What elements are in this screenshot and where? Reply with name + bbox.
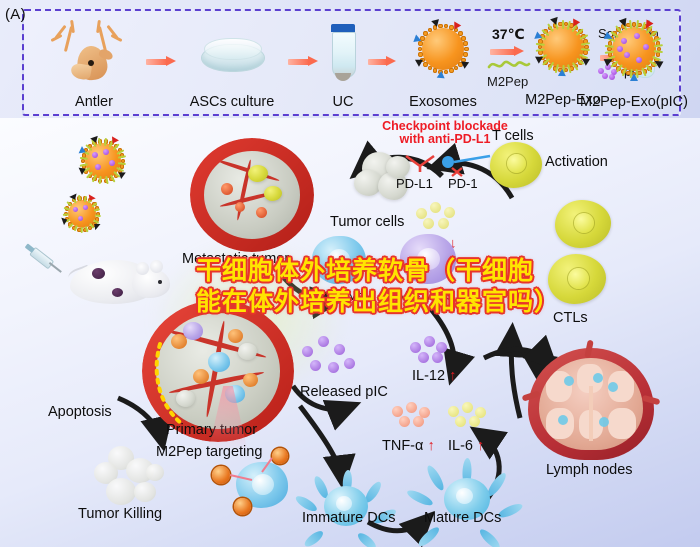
cytokine-tnf-alpha-name: TNF-α bbox=[382, 438, 423, 454]
panel-a-step-ascs: ASCs culture bbox=[176, 18, 288, 110]
il-12-dots bbox=[410, 336, 452, 364]
tnf-alpha-dots bbox=[392, 402, 436, 428]
label-m2-tams: M2-TAMs bbox=[309, 288, 364, 303]
centrifuge-tube-icon bbox=[330, 24, 356, 84]
cytokine-il-6-name: IL-6 bbox=[448, 438, 473, 454]
label-tumor-cells: Tumor cells bbox=[330, 214, 404, 230]
checkpoint-note-line2: with anti-PD-L1 bbox=[400, 132, 491, 146]
label-immature-dcs: Immature DCs bbox=[302, 510, 395, 526]
scientific-figure: Antler ASCs culture UC bbox=[0, 0, 700, 547]
panel-a-label: (A) bbox=[5, 6, 26, 23]
panel-a-caption-uc: UC bbox=[333, 94, 354, 110]
deer-antler-icon bbox=[55, 20, 133, 82]
label-t-cells: T cells bbox=[492, 128, 534, 144]
panel-a-caption-exosomes: Exosomes bbox=[409, 94, 477, 110]
m1-tam-art bbox=[400, 234, 456, 286]
panel-a-caption-m2pep-exo-pic: M2Pep-Exo(pIC) bbox=[580, 94, 688, 110]
pd-l1-pd-1-interaction-icon bbox=[404, 146, 496, 180]
petri-dish-icon bbox=[201, 34, 263, 78]
cytokine-il-6-arrow: ↑ bbox=[477, 438, 484, 454]
released-pic-dots bbox=[300, 336, 360, 382]
il-6-dots bbox=[448, 402, 492, 428]
syringe-icon bbox=[29, 247, 67, 280]
cytokine-il-12-name: IL-12 bbox=[412, 368, 445, 384]
panel-a-arrow-2 bbox=[288, 56, 318, 67]
mature-dc-art bbox=[426, 462, 510, 538]
panel-a-arrow-4 bbox=[490, 46, 524, 57]
label-pd-1: PD-1 bbox=[448, 176, 478, 191]
nanoparticle-large bbox=[78, 136, 128, 186]
label-pd-l1: PD-L1 bbox=[396, 176, 433, 191]
panel-a-arrow-1 bbox=[146, 56, 176, 67]
panel-a-temperature-label: 37℃ bbox=[492, 26, 525, 43]
label-ctls: CTLs bbox=[553, 310, 588, 326]
cytokine-tnf-alpha-arrow: ↑ bbox=[427, 438, 434, 454]
label-apoptosis: Apoptosis bbox=[48, 404, 112, 420]
il-10-dots bbox=[416, 202, 460, 232]
m2pep-targeting-art bbox=[200, 448, 306, 516]
ctl-art-1 bbox=[555, 200, 611, 250]
label-mature-dcs: Mature DCs bbox=[424, 510, 501, 526]
cytokine-il-6: IL-6 ↑ bbox=[448, 438, 484, 454]
m2-tam-art bbox=[312, 236, 366, 286]
apoptotic-body-art bbox=[92, 444, 170, 514]
label-m1-tams: M1-TAMs bbox=[398, 288, 453, 303]
panel-a-step-exosomes: Exosomes bbox=[396, 18, 490, 110]
cytokine-il-12-arrow: ↑ bbox=[449, 368, 456, 384]
ctl-art-2 bbox=[548, 254, 606, 306]
loaded-exosome-icon bbox=[603, 18, 665, 80]
lymph-node-art bbox=[528, 348, 654, 460]
label-metastatic-tumor: Metastatic tumor bbox=[182, 251, 289, 267]
cytokine-tnf-alpha: TNF-α ↑ bbox=[382, 438, 435, 454]
label-tumor-killing: Tumor Killing bbox=[78, 506, 162, 522]
panel-a-step-uc: UC bbox=[318, 18, 368, 110]
panel-a-m2pep-label: M2Pep bbox=[487, 74, 528, 89]
nanoparticle-small bbox=[62, 194, 102, 234]
panel-a-caption-ascs: ASCs culture bbox=[190, 94, 275, 110]
panel-b: Metastatic tumor Tumor cells Checkpoint … bbox=[0, 118, 700, 547]
exosome-icon bbox=[414, 20, 472, 78]
metastatic-tumor-art bbox=[190, 138, 314, 252]
immature-dc-art bbox=[308, 470, 386, 542]
t-cell-art bbox=[490, 142, 542, 190]
label-lymph-nodes: Lymph nodes bbox=[546, 462, 633, 478]
panel-a-caption-antler: Antler bbox=[75, 94, 113, 110]
checkpoint-note-line1: Checkpoint blockade bbox=[382, 119, 508, 133]
panel-a-arrow-3 bbox=[368, 56, 396, 67]
label-released-pic: Released pIC bbox=[300, 384, 388, 400]
panel-a-step-m2pep-exo-pic-group: M2Pep-Exo(pIC) bbox=[574, 16, 694, 112]
cytokine-il-12: IL-12 ↑ bbox=[412, 368, 456, 384]
label-activation: Activation bbox=[545, 154, 608, 170]
panel-a-step-antler: Antler bbox=[40, 18, 148, 110]
